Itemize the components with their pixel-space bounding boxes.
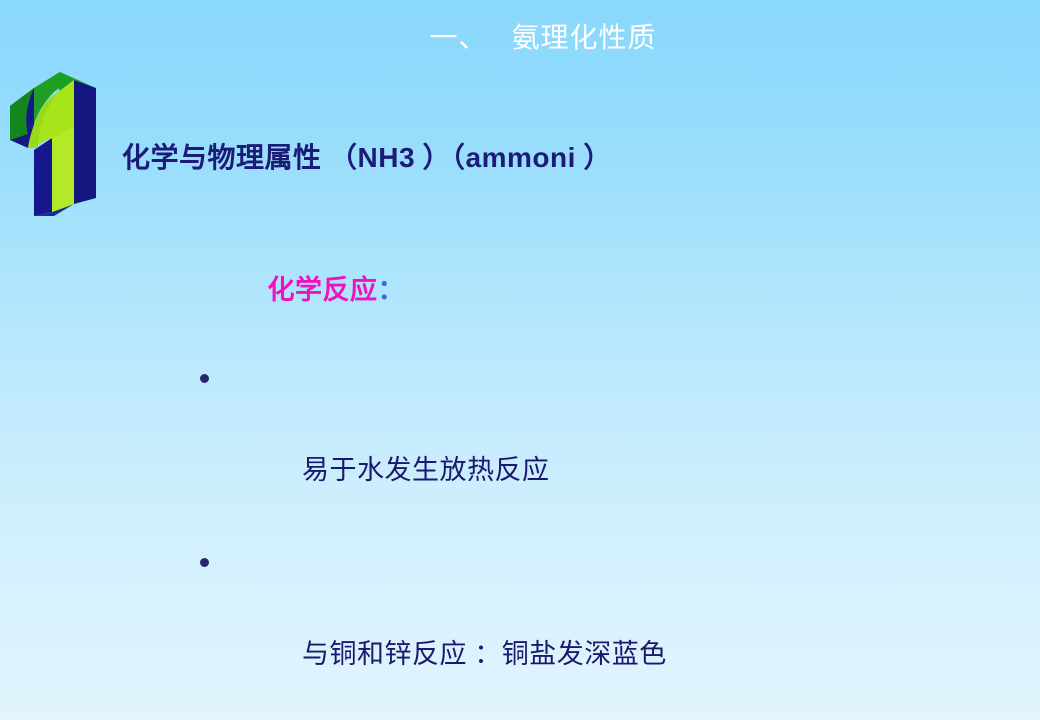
bullet-dot-icon [200, 374, 209, 383]
section-heading-label: 化学反应 [268, 275, 378, 305]
list-item-text: 与铜和锌反应 ：铜盐发深蓝色 [302, 639, 667, 669]
subtitle-compound-name: ammoni [466, 142, 576, 173]
subtitle-mid: ）（ [415, 143, 466, 174]
list-item: 易于水发生放热反应 [196, 355, 1016, 539]
slide-canvas: 一、 氨理化性质 化学与物理属性 （NH3 ）（ammoni ） 化学反应： 易… [0, 0, 1040, 720]
content-block: 化学反应： 易于水发生放热反应 与铜和锌反应 ：铜盐发深蓝色 与酸发生放热反应：… [196, 240, 1016, 720]
bullet-dot-icon [200, 558, 209, 567]
slide-subtitle: 化学与物理属性 （NH3 ）（ammoni ） [92, 105, 612, 211]
numeral-one-icon [8, 66, 100, 216]
list-item: 与铜和锌反应 ：铜盐发深蓝色 [196, 539, 1016, 720]
page-title: 一、 氨理化性质 [0, 22, 1040, 56]
list-item-text: 易于水发生放热反应 [302, 455, 550, 485]
subtitle-formula: NH3 [358, 142, 416, 173]
numeral-one-decoration [8, 66, 100, 216]
section-heading-colon: ： [378, 275, 406, 305]
bullet-list: 易于水发生放热反应 与铜和锌反应 ：铜盐发深蓝色 与酸发生放热反应：与二氧化硫，… [196, 355, 1016, 720]
subtitle-chinese: 化学与物理属性 （ [122, 143, 358, 174]
subtitle-end: ） [576, 143, 612, 174]
section-heading: 化学反应： [224, 240, 1016, 341]
